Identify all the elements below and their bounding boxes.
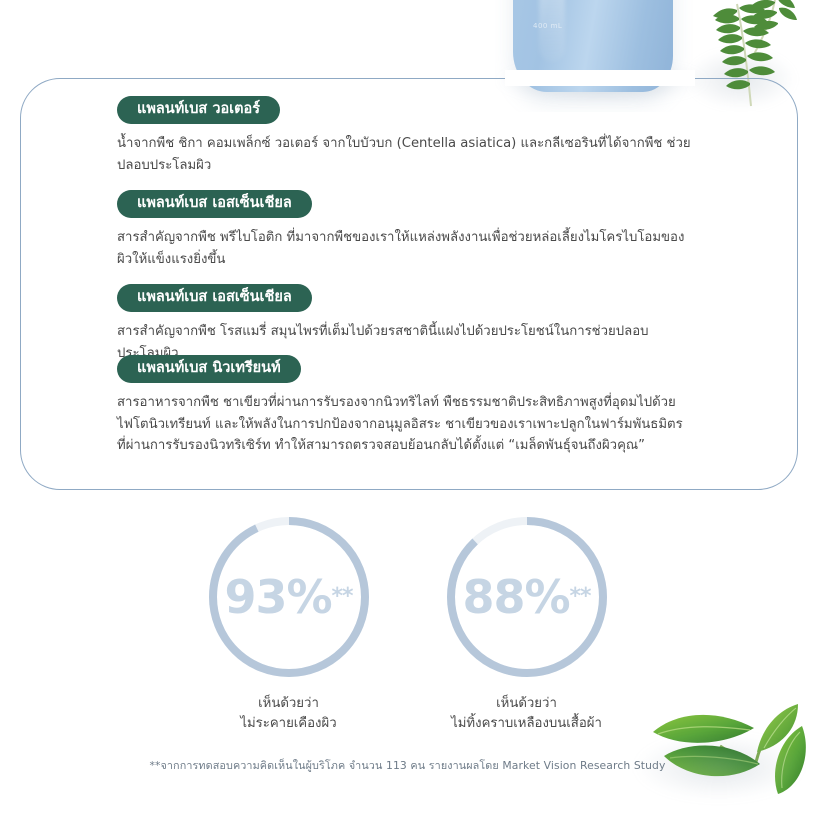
stat-caption-1-line1: เห็นด้วยว่า — [189, 694, 389, 714]
stat-value-1: 93% — [224, 574, 331, 620]
progress-ring-88: 88%** — [442, 512, 612, 682]
ingredient-badge-4: แพลนท์เบส นิวเทรียนท์ — [117, 355, 301, 383]
ingredient-text-1: น้ำจากพืช ชิกา คอมเพล็กซ์ วอเตอร์ จากใบบ… — [117, 133, 691, 176]
stat-row: 93%** เห็นด้วยว่า ไม่ระคายเคืองผิว 88%**… — [0, 512, 815, 735]
ingredient-section-2: แพลนท์เบส เอสเซ็นเชียล สารสำคัญจากพืช พร… — [117, 190, 717, 270]
stat-item-2: 88%** เห็นด้วยว่า ไม่ทิ้งคราบเหลืองบนเสื… — [427, 512, 627, 735]
stat-caption-2: เห็นด้วยว่า ไม่ทิ้งคราบเหลืองบนเสื้อผ้า — [427, 694, 627, 735]
stats-footnote: **จากการทดสอบความคิดเห็นในผู้บริโภค จำนว… — [0, 757, 815, 774]
ingredient-badge-3: แพลนท์เบส เอสเซ็นเชียล — [117, 284, 312, 312]
stat-value-2: 88% — [462, 574, 569, 620]
ingredient-text-2: สารสำคัญจากพืช พรีไบโอติก ที่มาจากพืชของ… — [117, 227, 691, 270]
bottle-volume-label: 400 mL — [533, 22, 562, 30]
stat-value-wrap-1: 93%** — [204, 512, 374, 682]
stat-superscript-2: ** — [570, 586, 591, 608]
stat-superscript-1: ** — [332, 586, 353, 608]
stat-caption-1: เห็นด้วยว่า ไม่ระคายเคืองผิว — [189, 694, 389, 735]
consumer-test-stats: 93%** เห็นด้วยว่า ไม่ระคายเคืองผิว 88%**… — [0, 512, 815, 774]
stat-caption-2-line1: เห็นด้วยว่า — [427, 694, 627, 714]
card-top-notch — [505, 70, 695, 86]
stat-value-wrap-2: 88%** — [442, 512, 612, 682]
ingredient-badge-2: แพลนท์เบส เอสเซ็นเชียล — [117, 190, 312, 218]
stat-item-1: 93%** เห็นด้วยว่า ไม่ระคายเคืองผิว — [189, 512, 389, 735]
bottle-highlight — [539, 0, 565, 62]
stat-caption-2-line2: ไม่ทิ้งคราบเหลืองบนเสื้อผ้า — [427, 714, 627, 734]
ingredient-text-4: สารอาหารจากพืช ชาเขียวที่ผ่านการรับรองจา… — [117, 392, 691, 456]
progress-ring-93: 93%** — [204, 512, 374, 682]
ingredient-badge-1: แพลนท์เบส วอเตอร์ — [117, 96, 280, 124]
ingredient-section-1: แพลนท์เบส วอเตอร์ น้ำจากพืช ชิกา คอมเพล็… — [117, 96, 717, 176]
ingredient-section-4: แพลนท์เบส นิวเทรียนท์ สารอาหารจากพืช ชาเ… — [117, 355, 717, 456]
stat-caption-1-line2: ไม่ระคายเคืองผิว — [189, 714, 389, 734]
ingredient-section-3: แพลนท์เบส เอสเซ็นเชียล สารสำคัญจากพืช โร… — [117, 284, 717, 364]
